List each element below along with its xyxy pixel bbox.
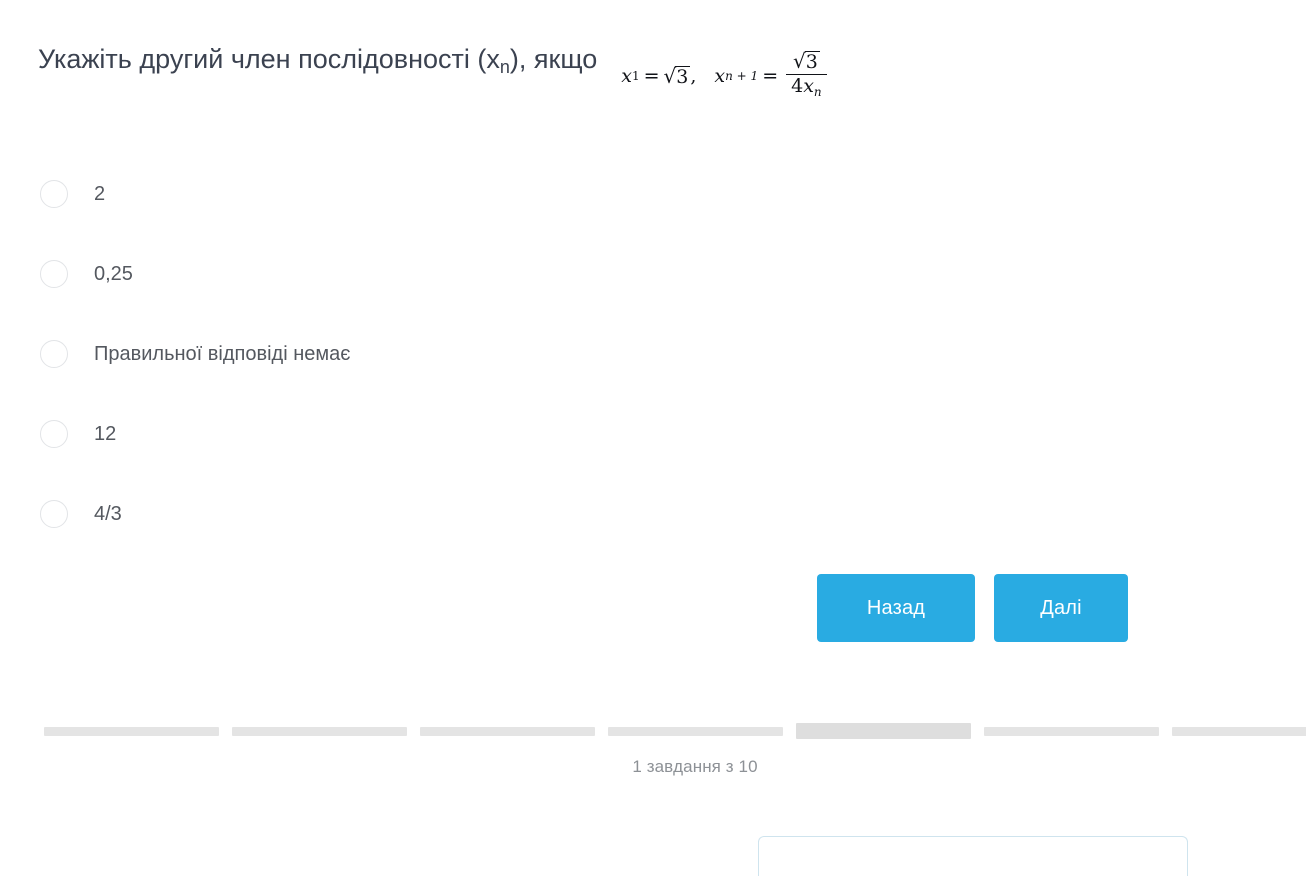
denominator-coefficient: 4 [791, 75, 803, 97]
answer-option-5[interactable]: 4/3 [40, 494, 940, 534]
page-title: Укажіть другий член послідовності (xn), … [38, 42, 597, 84]
progress-segment-4[interactable] [608, 727, 783, 736]
formula-equals-1: = [644, 65, 660, 87]
question-text-end: ), якщо [510, 44, 597, 74]
progress-segment-7[interactable] [1172, 727, 1306, 736]
progress-status-text: 1 завдання з 10 [632, 757, 757, 776]
answer-option-4[interactable]: 12 [40, 414, 940, 454]
math-formula: x1 = √ 3 , xn + 1 = √ 3 4xn [621, 52, 826, 101]
progress-segment-5[interactable] [796, 723, 971, 739]
progress-segment-1[interactable] [44, 727, 219, 736]
progress-segment-2[interactable] [232, 727, 407, 736]
formula-x1-index: 1 [632, 69, 640, 83]
formula-xn1-var: x [714, 65, 725, 87]
progress-segment-3[interactable] [420, 727, 595, 736]
question-header: Укажіть другий член послідовності (xn), … [38, 42, 1266, 91]
formula-xn1-index: n + 1 [725, 69, 758, 83]
back-button[interactable]: Назад [817, 574, 975, 642]
answer-option-3[interactable]: Правильної відповіді немає [40, 334, 940, 374]
answer-option-label: 0,25 [94, 264, 133, 284]
fraction-denominator: 4xn [786, 74, 827, 100]
formula-comma: , [690, 65, 696, 87]
answer-option-label: 2 [94, 184, 105, 204]
answer-option-label: 12 [94, 424, 116, 444]
answer-option-2[interactable]: 0,25 [40, 254, 940, 294]
answer-option-label: 4/3 [94, 504, 122, 524]
sqrt-3-first: √ 3 [664, 66, 691, 87]
radio-button-4[interactable] [40, 420, 68, 448]
formula-x1-var: x [621, 65, 632, 87]
next-button[interactable]: Далі [994, 574, 1128, 642]
navigation-buttons: Назад Далі [817, 574, 1128, 642]
sqrt-radicand-numerator: 3 [805, 51, 820, 72]
formula-equals-2: = [762, 65, 778, 87]
progress-segment-6[interactable] [984, 727, 1159, 736]
radio-button-3[interactable] [40, 340, 68, 368]
radio-button-2[interactable] [40, 260, 68, 288]
denominator-subscript: n [814, 86, 822, 100]
question-subscript-n: n [500, 57, 510, 77]
answer-options-list: 20,25Правильної відповіді немає124/3 [40, 174, 940, 574]
sqrt-radicand-first: 3 [675, 66, 690, 87]
progress-bar [44, 722, 1263, 742]
question-text-start: Укажіть другий член послідовності (x [38, 44, 500, 74]
bottom-answer-panel[interactable] [758, 836, 1188, 876]
fraction-numerator: √ 3 [788, 51, 825, 74]
denominator-variable: x [803, 75, 814, 97]
radio-button-1[interactable] [40, 180, 68, 208]
sqrt-3-numerator: √ 3 [793, 51, 820, 72]
answer-option-label: Правильної відповіді немає [94, 344, 350, 364]
radio-button-5[interactable] [40, 500, 68, 528]
progress-status: 1 завдання з 10 [0, 757, 1306, 777]
formula-fraction: √ 3 4xn [786, 51, 827, 100]
answer-option-1[interactable]: 2 [40, 174, 940, 214]
